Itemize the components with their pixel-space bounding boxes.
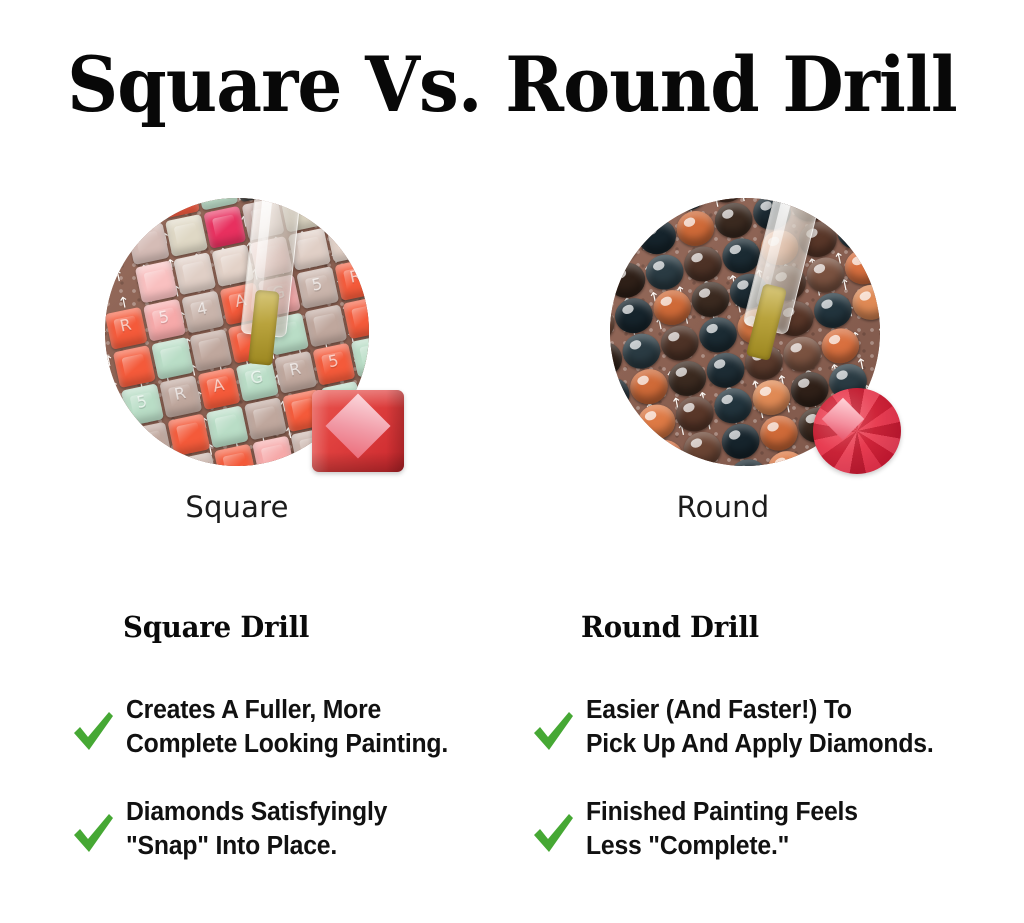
square-drill-bead [129, 422, 172, 465]
benefit-text: Easier (And Faster!) To Pick Up And Appl… [586, 694, 934, 761]
benefit-text: Finished Painting Feels Less "Complete." [586, 796, 858, 863]
round-drill-heading: Round Drill [581, 610, 759, 644]
list-item: Diamonds Satisfyingly "Snap" Into Place. [70, 794, 500, 866]
round-drill-bead [865, 198, 880, 209]
round-drill-bead [849, 281, 880, 323]
square-drill-bead [127, 222, 170, 265]
round-drill-bead [610, 445, 648, 466]
round-drill-bead [643, 251, 687, 293]
round-drill-bead [612, 295, 656, 337]
square-gem-icon [312, 390, 404, 472]
square-drill-bead [214, 444, 257, 466]
square-drill-bead: R [274, 351, 317, 394]
round-gem-icon [813, 388, 901, 474]
drill-code-glyph: 5 [314, 348, 353, 374]
square-drill-bead [173, 252, 216, 295]
check-icon [70, 810, 116, 856]
square-drill-bead [189, 329, 232, 372]
drill-code-glyph: R [275, 356, 314, 382]
round-drill-benefits: Easier (And Faster!) To Pick Up And Appl… [530, 692, 960, 896]
square-photo-caption: Square [72, 490, 402, 524]
square-photo-block: ↑↑↑↑↑↑↑↑↑↑↑↑↑↑↑↑↑↑↑↑↑↑↑↑↑↑↑↑↑↑↑↑↑↑↑↑↑↑↑↑… [90, 198, 420, 488]
round-drill-bead [842, 246, 880, 288]
round-drill-bead [610, 224, 641, 266]
round-drill-bead [628, 198, 672, 222]
benefit-text: Diamonds Satisfyingly "Snap" Into Place. [126, 796, 387, 863]
round-drill-bead [634, 401, 678, 443]
round-drill-bead [688, 278, 732, 320]
square-drill-bead [326, 220, 369, 263]
round-drill-bead [827, 198, 871, 217]
square-drill-bead [167, 414, 210, 457]
square-drill-bead: A [198, 367, 241, 410]
page-title: Square Vs. Round Drill [36, 44, 988, 126]
round-photo-block: ↑↑↑↑↑↑↑↑↑↑↑↑↑↑↑↑↑↑↑↑↑↑↑↑↑↑↑↑↑↑↑↑↑↑↑↑↑↑↑↑… [595, 198, 925, 488]
check-icon [530, 810, 576, 856]
round-drill-bead [719, 420, 763, 462]
square-drill-benefits: Creates A Fuller, More Complete Looking … [70, 692, 500, 896]
round-drill-bead [642, 437, 686, 466]
round-drill-bead [818, 325, 862, 367]
round-photo-caption: Round [558, 490, 888, 524]
square-drill-bead: 5 [296, 266, 339, 309]
round-drill-bead [665, 358, 709, 400]
round-drill-bead [681, 243, 725, 285]
round-drill-bead [673, 208, 717, 250]
square-drill-bead [113, 345, 156, 388]
round-drill-bead [834, 210, 878, 252]
square-drill-bead: G [236, 359, 279, 402]
infographic-page: Square Vs. Round Drill ↑↑↑↑↑↑↑↑↑↑↑↑↑↑↑↑↑… [0, 0, 1024, 923]
square-drill-bead: 4 [181, 291, 224, 334]
square-drill-bead [203, 206, 246, 249]
square-drill-bead [304, 304, 347, 347]
round-drill-bead [610, 259, 648, 301]
round-drill-bead [619, 330, 663, 372]
list-item: Easier (And Faster!) To Pick Up And Appl… [530, 692, 960, 764]
square-drill-bead [206, 405, 249, 448]
square-drill-bead [135, 260, 178, 303]
square-drill-bead [252, 436, 295, 466]
square-drill-bead: 5 [143, 299, 186, 342]
round-drill-bead [680, 428, 724, 466]
list-item: Creates A Fuller, More Complete Looking … [70, 692, 500, 764]
round-drill-bead [635, 216, 679, 258]
square-drill-bead [343, 296, 369, 339]
round-drill-bead [711, 385, 755, 427]
square-drill-bead: R [105, 307, 148, 350]
drill-code-glyph: 4 [183, 296, 222, 322]
drill-code-glyph: G [237, 365, 276, 391]
square-drill-bead: R [159, 375, 202, 418]
drill-code-glyph: A [199, 373, 238, 399]
round-drill-bead [696, 314, 740, 356]
drill-code-glyph: 4 [352, 340, 369, 366]
round-drill-bead [764, 448, 808, 466]
check-icon [530, 708, 576, 754]
square-drill-bead [165, 214, 208, 257]
square-drill-heading: Square Drill [123, 610, 309, 644]
round-drill-bead [673, 393, 717, 435]
square-drill-bead [151, 337, 194, 380]
check-icon [70, 708, 116, 754]
round-drill-bead [658, 322, 702, 364]
round-drill-bead [610, 409, 640, 451]
drill-code-glyph: R [160, 381, 199, 407]
round-drill-bead [627, 366, 671, 408]
drill-code-glyph: 5 [297, 272, 336, 298]
round-drill-bead [712, 199, 756, 241]
square-drill-bead: 5 [121, 383, 164, 426]
drill-code-glyph: 5 [122, 389, 161, 415]
round-drill-bead [780, 333, 824, 375]
round-drill-bead [749, 377, 793, 419]
round-drill-bead [811, 290, 855, 332]
round-drill-bead [704, 349, 748, 391]
square-drill-bead: R [334, 258, 369, 301]
round-drill-bead [610, 374, 633, 416]
gem-facet-ring [813, 388, 901, 474]
round-drill-bead [803, 254, 847, 296]
drill-code-glyph: 5 [144, 304, 183, 330]
round-drill-bead [757, 412, 801, 454]
square-drill-bead [244, 397, 287, 440]
drill-code-glyph: R [336, 264, 369, 290]
drill-code-glyph: R [106, 312, 145, 338]
round-drill-bead [650, 287, 694, 329]
square-drill-bead: 5 [312, 343, 355, 386]
benefit-text: Creates A Fuller, More Complete Looking … [126, 694, 448, 761]
list-item: Finished Painting Feels Less "Complete." [530, 794, 960, 866]
drill-code-glyph: G [105, 397, 123, 423]
